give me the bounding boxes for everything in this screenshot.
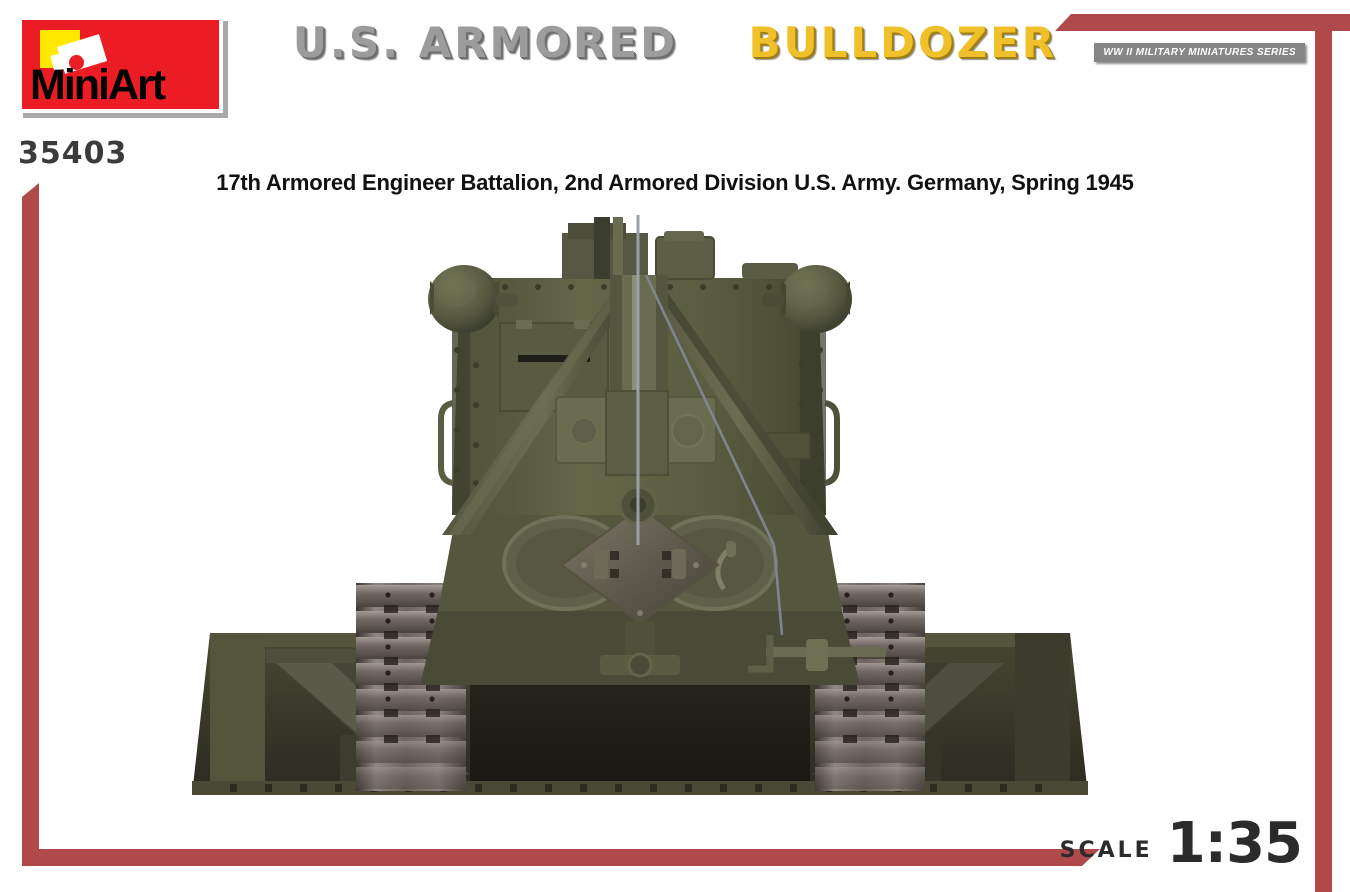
- series-badge: WW II MILITARY MINIATURES SERIES: [1094, 42, 1305, 62]
- series-badge-label: WW II MILITARY MINIATURES SERIES: [1094, 43, 1305, 62]
- model-photo: [170, 215, 1110, 825]
- logo-wordmark: MiniArt: [30, 64, 219, 107]
- title-part-gold: BULLDOZER: [748, 18, 1057, 67]
- model-photo-illustration: [170, 215, 1110, 825]
- frame-bar-bottom: [22, 849, 1100, 866]
- scale-label: SCALE: [1060, 838, 1153, 870]
- box-art-page: MiniArt 35403 U.S. ARMORED BULLDOZER WW …: [0, 0, 1350, 892]
- scale-indicator: SCALE 1:35: [1060, 817, 1302, 870]
- title-part-grey: U.S. ARMORED: [293, 18, 678, 67]
- frame-bar-right: [1315, 14, 1332, 892]
- product-code: 35403: [18, 136, 127, 171]
- subtitle: 17th Armored Engineer Battalion, 2nd Arm…: [0, 170, 1350, 196]
- scale-ratio: 1:35: [1167, 817, 1302, 870]
- frame-bar-left: [22, 183, 39, 866]
